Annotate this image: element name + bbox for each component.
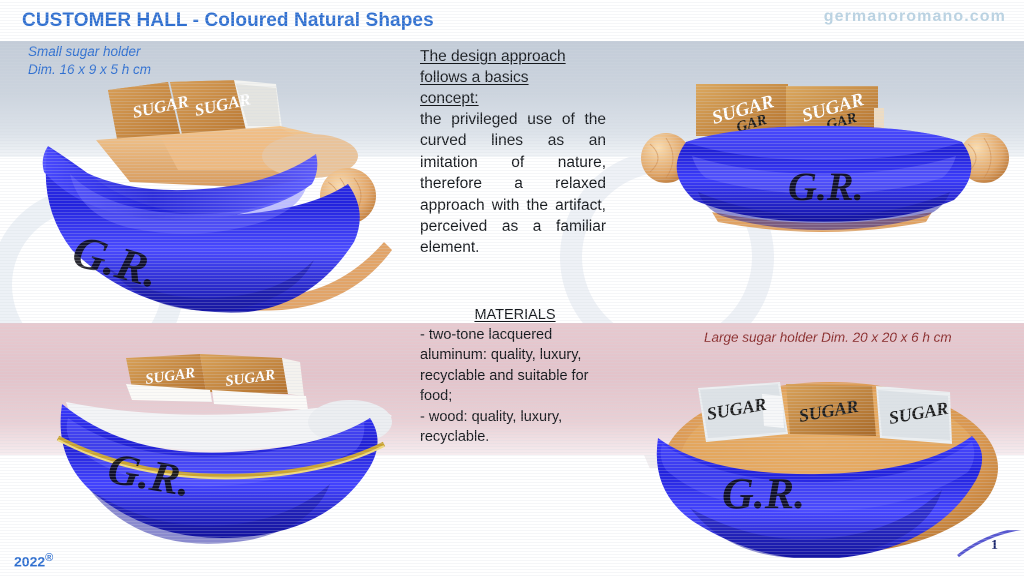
caption-large-sugar-holder: Large sugar holder Dim. 20 x 20 x 6 h cm xyxy=(704,329,952,347)
page-number: 1 xyxy=(991,538,998,554)
product-image-small-sugar-holder-front: SUGAR SUGAR GAR GAR G.R. xyxy=(628,76,1020,246)
product-image-small-sugar-holder-angled: SUGAR SUGAR G.R. xyxy=(10,78,410,318)
caption-small-sugar-holder: Small sugar holder Dim. 16 x 9 x 5 h cm xyxy=(28,43,151,79)
product-image-sugar-holder-gold-line: SUGAR SUGAR G.R. xyxy=(20,340,420,550)
design-approach-heading: The design approach follows a basics con… xyxy=(420,46,606,109)
engraving-gr: G.R. xyxy=(722,469,805,518)
product-image-large-sugar-holder: SUGAR SUGAR SUGAR G.R. xyxy=(640,358,1020,558)
design-approach-block: The design approach follows a basics con… xyxy=(420,46,606,259)
design-approach-body: the privileged use of the curved lines a… xyxy=(420,109,606,259)
slide-canvas: V CUSTOMER HALL - Coloured Natural Shape… xyxy=(0,0,1024,576)
materials-heading: MATERIALS xyxy=(420,305,610,325)
registered-mark: ® xyxy=(45,552,53,564)
materials-body: - two-tone lacquered aluminum: quality, … xyxy=(420,325,610,447)
footer-year-value: 2022 xyxy=(14,554,45,570)
site-watermark: germanoromano.com xyxy=(824,8,1006,26)
sugar-sachet-group: SUGAR SUGAR xyxy=(126,354,308,410)
footer-year: 2022® xyxy=(14,552,53,570)
engraving-gr: G.R. xyxy=(788,164,864,209)
page-title: CUSTOMER HALL - Coloured Natural Shapes xyxy=(22,10,434,32)
sugar-sachet-group: SUGAR SUGAR SUGAR xyxy=(698,382,952,444)
materials-block: MATERIALS - two-tone lacquered aluminum:… xyxy=(420,305,610,447)
